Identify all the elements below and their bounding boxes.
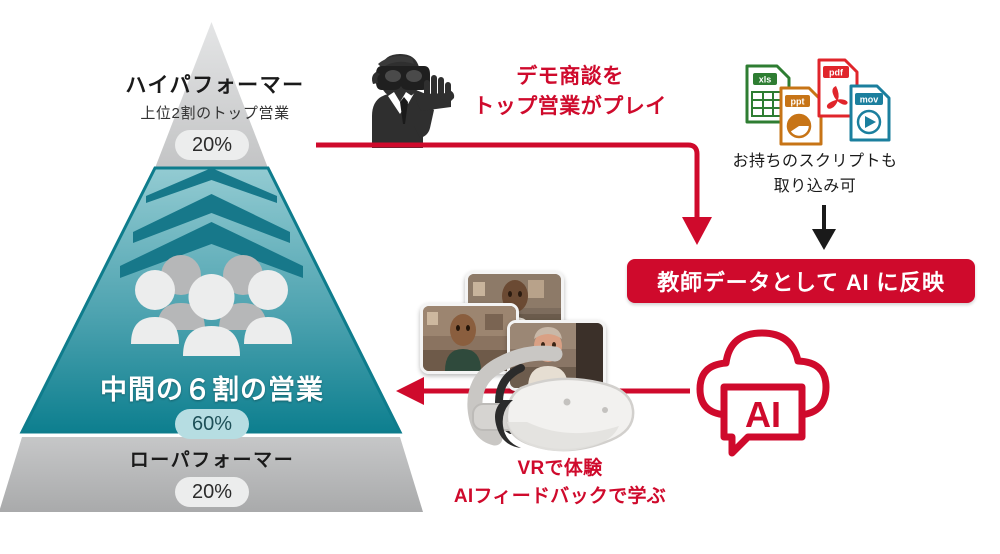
vr-headset-icon [455, 330, 645, 455]
ai-banner-label: 教師データとして AI に反映 [657, 265, 945, 297]
red-elbow-arrow-down [316, 145, 697, 222]
black-down-arrowhead [812, 229, 836, 250]
ai-cloud-speech-icon: AI [678, 315, 868, 475]
infographic-canvas: ハイパフォーマー 上位2割のトップ営業 20% 中間の６割の営業 60% ローパ… [0, 0, 1000, 554]
ai-cloud-label: AI [745, 394, 781, 435]
ai-training-banner: 教師データとして AI に反映 [627, 259, 975, 303]
vr-experience-caption: VRで体験 AIフィードバックで学ぶ [395, 455, 725, 510]
red-elbow-arrowhead [682, 217, 712, 245]
vr-experience-caption-line2: AIフィードバックで学ぶ [454, 486, 666, 507]
vr-experience-caption-line1: VRで体験 [518, 458, 603, 479]
red-left-arrowhead [396, 377, 424, 405]
